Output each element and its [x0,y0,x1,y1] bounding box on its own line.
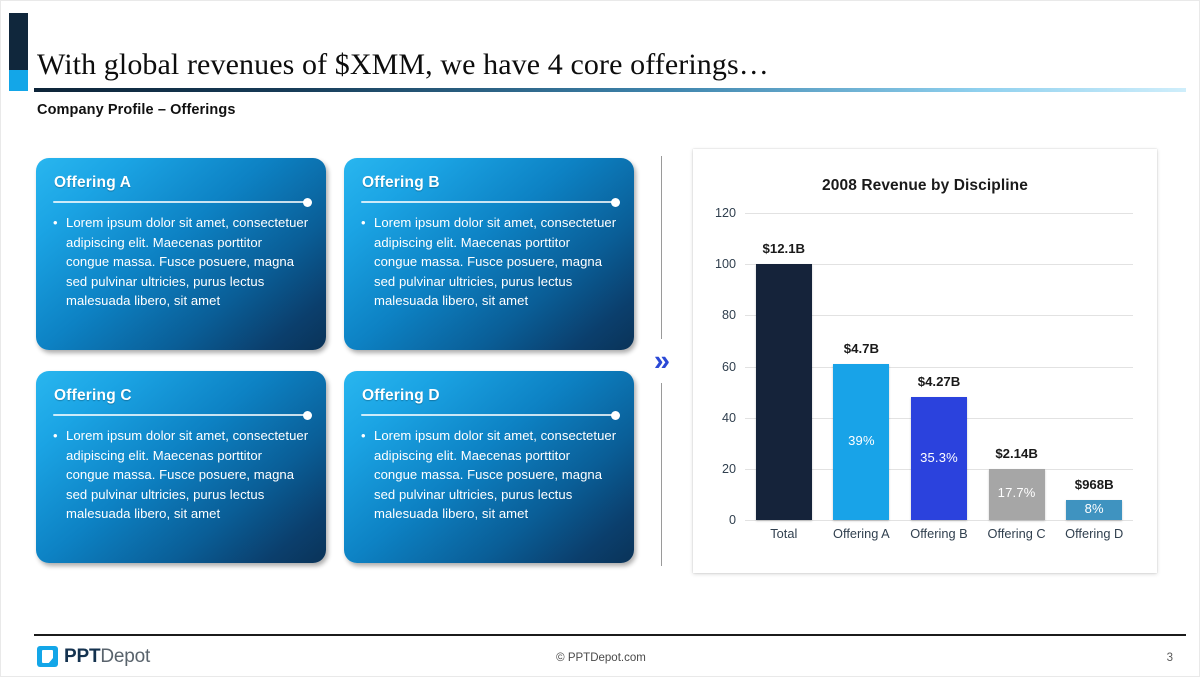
chart-bar-percent-label: 17.7% [989,485,1045,500]
copyright-notice: © PPTDepot.com [1,652,1200,664]
offerings-card-grid: Offering A • Lorem ipsum dolor sit amet,… [36,158,636,563]
chart-y-axis-tick: 0 [729,513,736,527]
chart-y-axis-tick: 100 [715,257,736,271]
page-subtitle: Company Profile – Offerings [37,102,236,118]
chart-bar-value-label: $12.1B [734,241,834,256]
bullet-icon: • [361,426,374,524]
offering-card-d-rule [361,414,617,416]
chart-bar-value-label: $968B [1044,477,1144,492]
chart-y-axis-tick: 60 [722,360,736,374]
rule-end-dot-icon [611,411,620,420]
offering-card-a[interactable]: Offering A • Lorem ipsum dolor sit amet,… [36,158,326,350]
chart-y-axis-tick: 20 [722,462,736,476]
chart-gridline: 120 [745,213,1133,214]
offering-card-c[interactable]: Offering C • Lorem ipsum dolor sit amet,… [36,371,326,563]
offering-card-d-body: • Lorem ipsum dolor sit amet, consectetu… [361,426,617,524]
chart-bar-percent-label: 8% [1066,501,1122,516]
chart-plot-area: 120100806040200$12.1BTotal$4.7B39%Offeri… [745,213,1133,520]
double-chevron-right-icon: » [646,339,678,383]
chart-title: 2008 Revenue by Discipline [693,177,1157,195]
chart-x-axis-tick: Offering B [900,526,978,541]
page-number: 3 [1167,652,1173,664]
offering-card-d-text: Lorem ipsum dolor sit amet, consectetuer… [374,426,617,524]
chart-bar-value-label: $2.14B [967,446,1067,461]
revenue-chart-panel: 2008 Revenue by Discipline 1201008060402… [693,149,1157,573]
chart-x-axis-tick: Total [745,526,823,541]
chart-bar[interactable]: $4.27B35.3% [911,397,967,520]
header-accent-bar [9,13,28,91]
accent-bar-light-segment [9,70,28,91]
offering-card-b[interactable]: Offering B • Lorem ipsum dolor sit amet,… [344,158,634,350]
chart-x-axis-tick: Offering A [823,526,901,541]
chart-gridline: 0 [745,520,1133,521]
rule-end-dot-icon [611,198,620,207]
offering-card-d-title: Offering D [362,387,617,405]
chart-bar-percent-label: 35.3% [911,450,967,465]
chart-bar-percent-label: 39% [833,433,889,448]
chart-bar-value-label: $4.27B [889,374,989,389]
chart-bar-value-label: $4.7B [811,341,911,356]
rule-end-dot-icon [303,198,312,207]
offering-card-b-text: Lorem ipsum dolor sit amet, consectetuer… [374,213,617,311]
chart-y-axis-tick: 80 [722,308,736,322]
offering-card-a-title: Offering A [54,174,309,192]
offering-card-b-body: • Lorem ipsum dolor sit amet, consectetu… [361,213,617,311]
slide: With global revenues of $XMM, we have 4 … [0,0,1200,677]
offering-card-b-rule [361,201,617,203]
offering-card-a-rule [53,201,309,203]
rule-end-dot-icon [303,411,312,420]
chart-x-axis-tick: Offering C [978,526,1056,541]
chart-bar[interactable]: $2.14B17.7% [989,469,1045,520]
footer-divider [34,634,1186,636]
offering-card-c-rule [53,414,309,416]
page-title: With global revenues of $XMM, we have 4 … [37,47,769,83]
offering-card-b-title: Offering B [362,174,617,192]
title-underline-gradient [34,88,1186,92]
chart-y-axis-tick: 40 [722,411,736,425]
offering-card-a-body: • Lorem ipsum dolor sit amet, consectetu… [53,213,309,311]
offering-card-a-text: Lorem ipsum dolor sit amet, consectetuer… [66,213,309,311]
chart-bar[interactable]: $4.7B39% [833,364,889,520]
chart-y-axis-tick: 120 [715,206,736,220]
accent-bar-dark-segment [9,13,28,70]
bullet-icon: • [53,426,66,524]
offering-card-c-body: • Lorem ipsum dolor sit amet, consectetu… [53,426,309,524]
offering-card-d[interactable]: Offering D • Lorem ipsum dolor sit amet,… [344,371,634,563]
offering-card-c-text: Lorem ipsum dolor sit amet, consectetuer… [66,426,309,524]
bullet-icon: • [361,213,374,311]
chart-x-axis-tick: Offering D [1055,526,1133,541]
offering-card-c-title: Offering C [54,387,309,405]
chart-bar[interactable]: $12.1B [756,264,812,520]
bullet-icon: • [53,213,66,311]
chart-bar[interactable]: $968B8% [1066,500,1122,520]
